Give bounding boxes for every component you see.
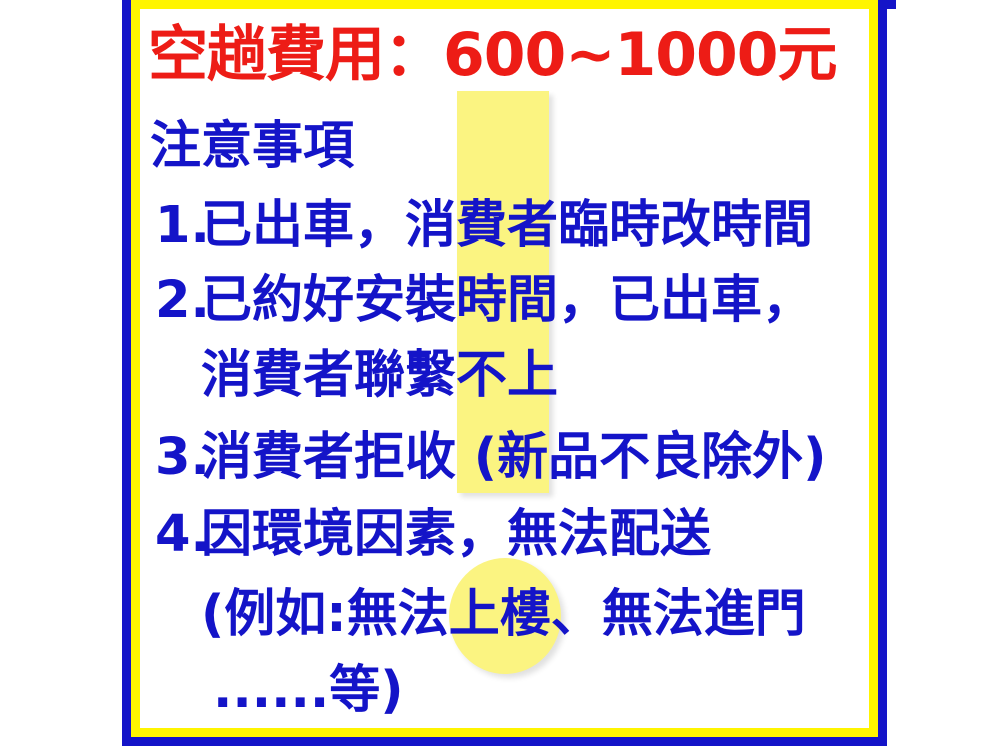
- list-item-1-number: 1.: [155, 200, 201, 251]
- list-item-2-line-2: 消費者聯繫不上: [201, 350, 558, 401]
- poster-title: 空趟費用：600~1000元: [148, 25, 837, 85]
- list-item-3-line-1: 消費者拒收 (新品不良除外): [201, 428, 826, 487]
- list-item-4: 4.因環境因素，無法配送: [155, 509, 711, 560]
- list-item-2-line-1: 已約好安裝時間，已出車，: [201, 271, 813, 330]
- list-item-4-line-2: (例如:無法上樓、無法進門: [201, 589, 806, 640]
- list-item-1: 1.已出車，消費者臨時改時間: [155, 200, 813, 251]
- poster-subtitle: 注意事項: [150, 121, 354, 172]
- list-item-4-line-3: ......等): [213, 665, 404, 716]
- list-item-3-number: 3.: [155, 432, 201, 483]
- list-item-1-line-1: 已出車，消費者臨時改時間: [201, 196, 813, 255]
- list-item-3: 3.消費者拒收 (新品不良除外): [155, 432, 826, 483]
- poster-text-layer: 空趟費用：600~1000元 注意事項 1.已出車，消費者臨時改時間 2.已約好…: [0, 0, 1000, 750]
- list-item-4-line-1: 因環境因素，無法配送: [201, 505, 711, 564]
- list-item-2: 2.已約好安裝時間，已出車，: [155, 275, 813, 326]
- list-item-4-number: 4.: [155, 509, 201, 560]
- list-item-2-number: 2.: [155, 275, 201, 326]
